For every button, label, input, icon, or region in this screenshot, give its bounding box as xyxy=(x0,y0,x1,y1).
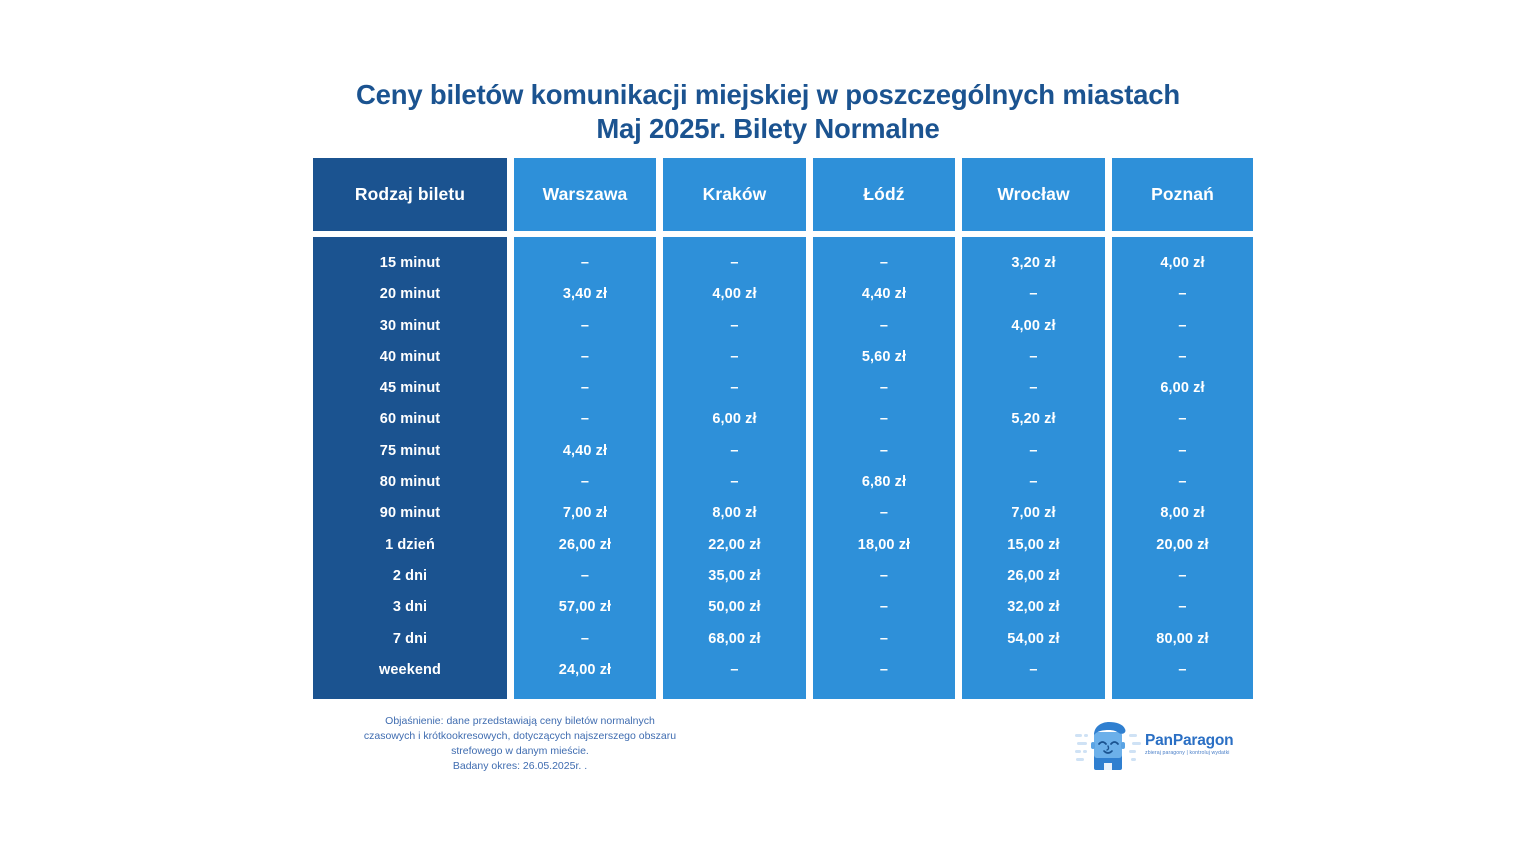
price-cell: – xyxy=(813,311,955,342)
row-label: 7 dni xyxy=(313,624,507,655)
price-cell: – xyxy=(813,624,955,655)
row-label: 40 minut xyxy=(313,342,507,373)
price-cell: – xyxy=(1112,404,1253,435)
row-label: 2 dni xyxy=(313,561,507,592)
row-label: weekend xyxy=(313,655,507,686)
price-cell: 6,00 zł xyxy=(663,404,806,435)
price-cell: – xyxy=(813,404,955,435)
footnote: Objaśnienie: dane przedstawiają ceny bil… xyxy=(330,714,710,774)
row-label: 1 dzień xyxy=(313,530,507,561)
price-cell: – xyxy=(663,655,806,686)
price-cell: – xyxy=(1112,311,1253,342)
price-cell: – xyxy=(514,342,656,373)
price-cell: 68,00 zł xyxy=(663,624,806,655)
price-cell: 6,00 zł xyxy=(1112,373,1253,404)
price-cell: – xyxy=(1112,655,1253,686)
price-cell: – xyxy=(1112,561,1253,592)
price-cell: 26,00 zł xyxy=(514,530,656,561)
price-cell: – xyxy=(663,248,806,279)
row-label: 75 minut xyxy=(313,436,507,467)
price-cell: – xyxy=(962,342,1105,373)
footnote-line-2: czasowych i krótkookresowych, dotyczącyc… xyxy=(330,729,710,744)
column-lodz: – 4,40 zł – 5,60 zł – – – 6,80 zł – 18,0… xyxy=(813,237,955,699)
price-cell: – xyxy=(813,498,955,529)
row-label: 60 minut xyxy=(313,404,507,435)
price-cell: – xyxy=(663,311,806,342)
price-cell: 5,60 zł xyxy=(813,342,955,373)
price-cell: 4,00 zł xyxy=(663,279,806,310)
price-cell: – xyxy=(514,624,656,655)
footnote-line-3: strefowego w danym mieście. xyxy=(330,744,710,759)
price-cell: 8,00 zł xyxy=(663,498,806,529)
row-label: 20 minut xyxy=(313,279,507,310)
page-title: Ceny biletów komunikacji miejskiej w pos… xyxy=(268,78,1268,146)
price-cell: – xyxy=(962,436,1105,467)
price-cell: – xyxy=(813,436,955,467)
price-cell: – xyxy=(1112,436,1253,467)
price-cell: – xyxy=(813,248,955,279)
price-cell: – xyxy=(663,342,806,373)
row-label: 90 minut xyxy=(313,498,507,529)
price-cell: 26,00 zł xyxy=(962,561,1105,592)
price-cell: – xyxy=(1112,342,1253,373)
price-cell: 57,00 zł xyxy=(514,592,656,623)
price-cell: – xyxy=(813,592,955,623)
infographic-root: Ceny biletów komunikacji miejskiej w pos… xyxy=(0,0,1536,864)
price-cell: 18,00 zł xyxy=(813,530,955,561)
price-cell: – xyxy=(514,373,656,404)
price-cell: 32,00 zł xyxy=(962,592,1105,623)
price-cell: 7,00 zł xyxy=(514,498,656,529)
price-cell: 4,40 zł xyxy=(813,279,955,310)
row-label: 45 minut xyxy=(313,373,507,404)
price-cell: 4,40 zł xyxy=(514,436,656,467)
price-cell: – xyxy=(514,404,656,435)
row-label: 15 minut xyxy=(313,248,507,279)
price-cell: – xyxy=(514,467,656,498)
price-cell: – xyxy=(962,655,1105,686)
price-cell: – xyxy=(962,373,1105,404)
price-cell: – xyxy=(1112,467,1253,498)
column-krakow: – 4,00 zł – – – 6,00 zł – – 8,00 zł 22,0… xyxy=(663,237,806,699)
column-rodzaj-biletu: 15 minut 20 minut 30 minut 40 minut 45 m… xyxy=(313,237,507,699)
price-cell: – xyxy=(663,436,806,467)
price-cell: 4,00 zł xyxy=(962,311,1105,342)
price-cell: 50,00 zł xyxy=(663,592,806,623)
table-header-row: Rodzaj biletu Warszawa Kraków Łódź Wrocł… xyxy=(313,158,1229,231)
price-cell: 35,00 zł xyxy=(663,561,806,592)
price-cell: – xyxy=(962,279,1105,310)
column-poznan: 4,00 zł – – – 6,00 zł – – – 8,00 zł 20,0… xyxy=(1112,237,1253,699)
price-cell: – xyxy=(663,373,806,404)
price-cell: 54,00 zł xyxy=(962,624,1105,655)
price-cell: – xyxy=(514,561,656,592)
footnote-line-1: Objaśnienie: dane przedstawiają ceny bil… xyxy=(330,714,710,729)
price-cell: 4,00 zł xyxy=(1112,248,1253,279)
price-cell: 3,20 zł xyxy=(962,248,1105,279)
table-header-poznan: Poznań xyxy=(1112,158,1253,231)
price-cell: 24,00 zł xyxy=(514,655,656,686)
price-cell: – xyxy=(962,467,1105,498)
price-cell: – xyxy=(663,467,806,498)
price-cell: 3,40 zł xyxy=(514,279,656,310)
table-header-wroclaw: Wrocław xyxy=(962,158,1105,231)
logo-name: PanParagon xyxy=(1145,732,1233,749)
table-header-rodzaj-biletu: Rodzaj biletu xyxy=(313,158,507,231)
column-warszawa: – 3,40 zł – – – – 4,40 zł – 7,00 zł 26,0… xyxy=(514,237,656,699)
price-cell: – xyxy=(1112,279,1253,310)
panparagon-logo: PanParagon zbieraj paragony | kontroluj … xyxy=(1075,716,1235,772)
panparagon-wordmark: PanParagon zbieraj paragony | kontroluj … xyxy=(1145,732,1233,757)
price-cell: – xyxy=(813,655,955,686)
price-cell: 6,80 zł xyxy=(813,467,955,498)
price-cell: – xyxy=(813,561,955,592)
price-cell: 22,00 zł xyxy=(663,530,806,561)
table-body: 15 minut 20 minut 30 minut 40 minut 45 m… xyxy=(313,237,1229,699)
logo-tagline: zbieraj paragony | kontroluj wydatki xyxy=(1145,749,1233,757)
table-header-warszawa: Warszawa xyxy=(514,158,656,231)
title-line-2: Maj 2025r. Bilety Normalne xyxy=(268,112,1268,146)
row-label: 30 minut xyxy=(313,311,507,342)
price-cell: 80,00 zł xyxy=(1112,624,1253,655)
row-label: 80 minut xyxy=(313,467,507,498)
table-header-lodz: Łódź xyxy=(813,158,955,231)
price-cell: 15,00 zł xyxy=(962,530,1105,561)
title-line-1: Ceny biletów komunikacji miejskiej w pos… xyxy=(268,78,1268,112)
table-header-krakow: Kraków xyxy=(663,158,806,231)
price-cell: 8,00 zł xyxy=(1112,498,1253,529)
price-cell: 5,20 zł xyxy=(962,404,1105,435)
price-cell: – xyxy=(813,373,955,404)
row-label: 3 dni xyxy=(313,592,507,623)
footnote-line-4: Badany okres: 26.05.2025r. . xyxy=(330,759,710,774)
column-wroclaw: 3,20 zł – 4,00 zł – – 5,20 zł – – 7,00 z… xyxy=(962,237,1105,699)
price-cell: – xyxy=(514,311,656,342)
price-cell: 20,00 zł xyxy=(1112,530,1253,561)
price-cell: – xyxy=(514,248,656,279)
panparagon-mascot-icon xyxy=(1075,718,1141,770)
price-table: Rodzaj biletu Warszawa Kraków Łódź Wrocł… xyxy=(313,158,1229,699)
price-cell: 7,00 zł xyxy=(962,498,1105,529)
price-cell: – xyxy=(1112,592,1253,623)
